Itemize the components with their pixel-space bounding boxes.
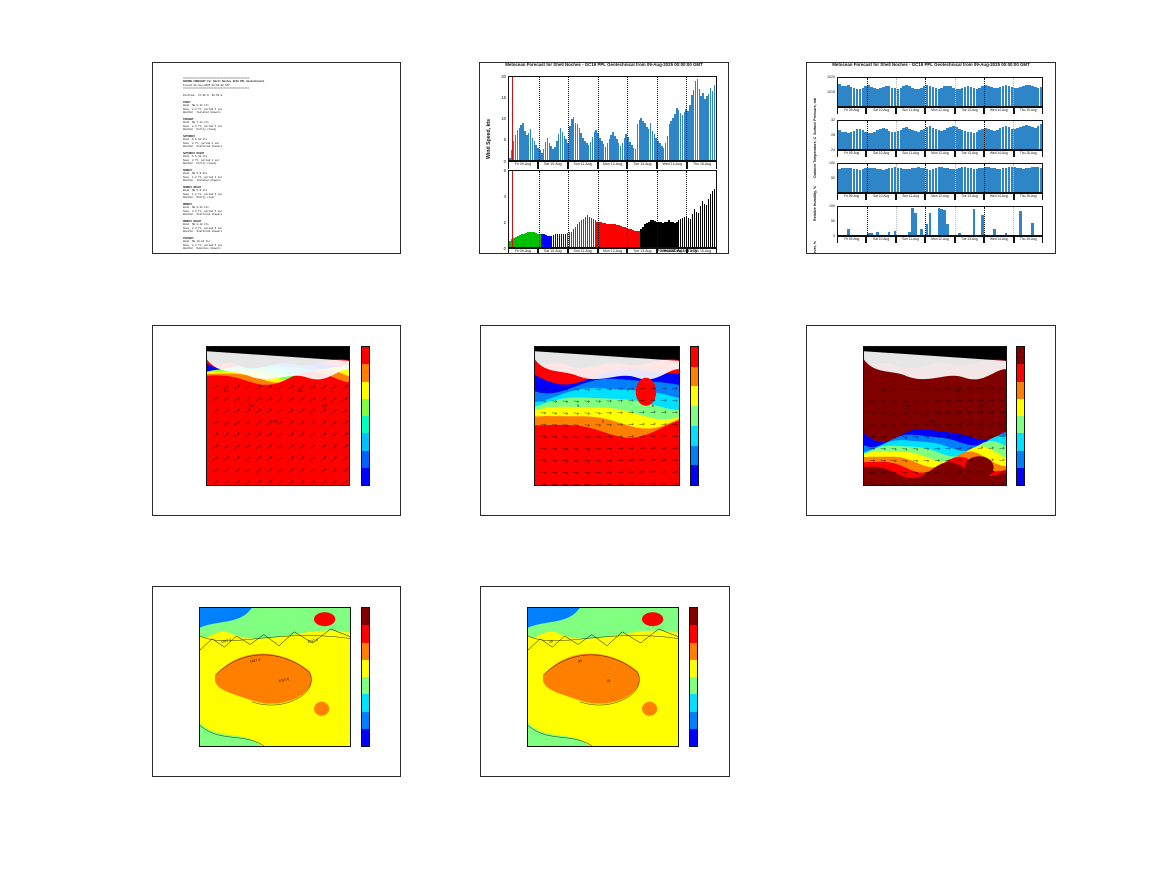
outdoor-pressure-y-tick: 1015 — [820, 90, 835, 94]
colorbar-swatch — [690, 625, 697, 642]
airtemp-map-colorbar — [689, 607, 698, 747]
bar — [888, 232, 891, 235]
day-gridline — [984, 207, 985, 235]
day-label: Tue 13-Aug — [955, 237, 984, 243]
colorbar-swatch — [362, 347, 369, 364]
wind-speed-y-tick: 10 — [492, 116, 506, 121]
day-gridline — [984, 121, 985, 149]
wind-speed-y-tick: 20 — [492, 74, 506, 79]
outdoor-pressure-axis-label: Surface Pressure, mb — [813, 98, 817, 135]
day-gridline — [867, 78, 868, 106]
day-gridline — [896, 207, 897, 235]
wind-speed-y-tick: 0 — [492, 159, 506, 164]
svg-text:5: 5 — [577, 404, 579, 408]
day-gridline — [955, 121, 956, 149]
colorbar-swatch — [362, 643, 369, 660]
day-gridline — [627, 77, 628, 160]
relative-humidity-y-tick: 100 — [820, 161, 835, 165]
day-gridline — [686, 77, 687, 160]
sun-cover-plot-area — [837, 206, 1043, 236]
bar — [946, 224, 949, 235]
svg-text:0.2: 0.2 — [881, 389, 886, 393]
day-gridline — [925, 207, 926, 235]
colorbar-swatch — [690, 712, 697, 729]
sun-cover-axis-label: Sun Cover, % — [813, 241, 817, 254]
day-gridline — [539, 77, 540, 160]
day-gridline — [1013, 121, 1014, 149]
svg-text:0.8: 0.8 — [322, 404, 327, 408]
current-map-plot-area: 0.20.40.60.81.2 — [863, 346, 1007, 486]
day-gridline — [568, 77, 569, 160]
colorbar-swatch — [691, 426, 698, 446]
wind-map-plot-area: 45678 — [534, 346, 680, 486]
current-time-marker — [512, 77, 513, 160]
bar — [1031, 223, 1034, 235]
day-label: Tue 13-Aug — [955, 194, 984, 200]
colorbar-swatch — [362, 608, 369, 625]
colorbar-swatch — [362, 364, 369, 381]
wave-height-y-tick: 2 — [492, 220, 506, 225]
day-gridline — [568, 171, 569, 247]
wave-height-bars — [509, 171, 716, 247]
sun-cover-y-tick: 0 — [820, 234, 835, 238]
bar — [1040, 168, 1043, 192]
relative-humidity-plot-area — [837, 163, 1043, 193]
svg-text:0.6: 0.6 — [930, 420, 935, 424]
day-gridline — [896, 121, 897, 149]
day-label: Mon 12-Aug — [925, 194, 954, 200]
bar — [958, 233, 961, 235]
day-label: Sun 11-Aug — [568, 249, 598, 254]
day-label: Fri 09-Aug — [508, 162, 538, 169]
colorbar-swatch — [362, 433, 369, 450]
day-label: Mon 12-Aug — [925, 108, 954, 114]
day-label: Sun 11-Aug — [896, 194, 925, 200]
day-label: Sat 10-Aug — [866, 108, 895, 114]
bar — [847, 229, 850, 235]
sun-cover-bars — [838, 207, 1042, 235]
day-label: Thu 15-Aug — [1014, 194, 1043, 200]
wave-map-plot-area: 0.30.40.50.60.8 — [206, 346, 350, 486]
outdoor-temperature-plot-area — [837, 120, 1043, 150]
wind-map-colorbar — [690, 346, 699, 486]
colorbar-swatch — [362, 399, 369, 416]
air-temperature-map-panel: 293031 — [480, 586, 730, 777]
colorbar-swatch — [690, 643, 697, 660]
colorbar-swatch — [362, 694, 369, 711]
colorbar-swatch — [362, 712, 369, 729]
met-title: Metocean Forecast for Shell Noches - GC1… — [807, 62, 1055, 67]
day-label: Wed 14-Aug — [984, 194, 1013, 200]
wind-speed-plot-area — [508, 76, 717, 161]
day-label: Wed 14-Aug — [657, 162, 687, 169]
meteorology-timeseries-panel: Metocean Forecast for Shell Noches - GC1… — [806, 62, 1056, 254]
sun-cover-day-strip: Fri 09-AugSat 10-AugSun 11-AugMon 12-Aug… — [837, 236, 1043, 243]
colorbar-swatch — [362, 468, 369, 485]
day-gridline — [955, 164, 956, 192]
current-map-colorbar — [1016, 346, 1025, 486]
legend-item-list: ExcellentVery GoodGoodFairPoor — [638, 253, 716, 254]
pressure-map-colorbar — [361, 607, 370, 747]
wind-speed-y-tick: 15 — [492, 95, 506, 100]
wind-speed-map-panel: 45678 — [480, 325, 730, 516]
outdoor-temperature-y-tick: 24 — [820, 148, 835, 152]
day-label: Thu 15-Aug — [1014, 151, 1043, 157]
bar — [1005, 233, 1008, 235]
day-gridline — [657, 171, 658, 247]
outdoor-temperature-y-tick: 28 — [820, 133, 835, 137]
day-label: Sat 10-Aug — [538, 249, 568, 254]
svg-text:4: 4 — [553, 389, 555, 393]
day-label: Mon 12-Aug — [925, 151, 954, 157]
colorbar-swatch — [1017, 451, 1024, 468]
day-gridline — [925, 78, 926, 106]
day-gridline — [598, 77, 599, 160]
svg-text:7: 7 — [627, 389, 629, 393]
day-label: Sun 11-Aug — [896, 108, 925, 114]
day-label: Thu 15-Aug — [1014, 237, 1043, 243]
colorbar-swatch — [690, 608, 697, 625]
forecast-report-page: ========================================… — [0, 0, 1167, 875]
forecast-accuracy-legend: Forecast Accuracy ExcellentVery GoodGood… — [638, 248, 716, 254]
colorbar-swatch — [362, 677, 369, 694]
wind-wave-timeseries-panel: Metocean Forecast for Shell Noches - GC1… — [479, 62, 729, 254]
outdoor-pressure-y-tick: 1020 — [820, 75, 835, 79]
day-gridline — [598, 171, 599, 247]
colorbar-swatch — [691, 406, 698, 426]
forecast-text-report-panel: ========================================… — [152, 62, 401, 254]
day-label: Sat 10-Aug — [538, 162, 568, 169]
day-label: Fri 09-Aug — [837, 108, 866, 114]
day-gridline — [984, 164, 985, 192]
svg-text:0.4: 0.4 — [249, 404, 254, 408]
colorbar-swatch — [691, 465, 698, 485]
bar — [914, 213, 917, 235]
day-label: Fri 09-Aug — [837, 237, 866, 243]
wave-map-colorbar — [361, 346, 370, 486]
colorbar-swatch — [691, 347, 698, 367]
day-label: Fri 09-Aug — [508, 249, 538, 254]
day-label: Wed 14-Aug — [984, 108, 1013, 114]
day-gridline — [925, 164, 926, 192]
wave-height-plot-area — [508, 170, 717, 248]
day-gridline — [539, 171, 540, 247]
colorbar-swatch — [691, 386, 698, 406]
day-gridline — [955, 207, 956, 235]
wave-height-map-panel: 0.30.40.50.60.8 — [152, 325, 401, 516]
colorbar-swatch — [362, 416, 369, 433]
colorbar-swatch — [362, 729, 369, 746]
day-label: Thu 15-Aug — [1014, 108, 1043, 114]
svg-text:0.4: 0.4 — [906, 404, 911, 408]
bar — [1019, 211, 1022, 235]
day-gridline — [955, 78, 956, 106]
svg-text:6: 6 — [602, 420, 604, 424]
day-label: Thu 15-Aug — [687, 162, 717, 169]
wind-speed-bars — [509, 77, 716, 160]
outdoor-temperature-axis-label: Outdoor Temperature, C — [813, 137, 817, 178]
day-gridline — [984, 78, 985, 106]
day-gridline — [867, 164, 868, 192]
relative-humidity-y-tick: 50 — [820, 176, 835, 180]
day-label: Mon 12-Aug — [598, 249, 628, 254]
bar — [714, 85, 716, 160]
day-label: Tue 13-Aug — [627, 162, 657, 169]
day-gridline — [686, 171, 687, 247]
colorbar-swatch — [362, 660, 369, 677]
outdoor-temperature-bars — [838, 121, 1042, 149]
day-label: Sat 10-Aug — [866, 194, 895, 200]
bar — [714, 189, 716, 247]
day-label: Wed 14-Aug — [984, 237, 1013, 243]
wind-speed-day-strip: Fri 09-AugSat 10-AugSun 11-AugMon 12-Aug… — [508, 161, 717, 169]
bar — [876, 232, 879, 235]
colorbar-swatch — [691, 367, 698, 387]
colorbar-swatch — [1017, 364, 1024, 381]
wave-height-y-tick: 6 — [492, 168, 506, 173]
day-label: Wed 14-Aug — [984, 151, 1013, 157]
svg-text:1.2: 1.2 — [979, 404, 984, 408]
relative-humidity-bars — [838, 164, 1042, 192]
colorbar-swatch — [1017, 347, 1024, 364]
current-speed-map-panel: 0.20.40.60.81.2 — [806, 325, 1056, 516]
day-label: Fri 09-Aug — [837, 194, 866, 200]
bar — [1040, 87, 1043, 106]
pressure-map-plot-area: 1017.21017.41017.61017.8 — [199, 607, 351, 747]
colorbar-swatch — [690, 677, 697, 694]
day-gridline — [1013, 164, 1014, 192]
day-label: Sun 11-Aug — [896, 151, 925, 157]
colorbar-swatch — [1017, 416, 1024, 433]
day-label: Sun 11-Aug — [568, 162, 598, 169]
day-label: Tue 13-Aug — [955, 108, 984, 114]
day-gridline — [627, 171, 628, 247]
outdoor-pressure-plot-area — [837, 77, 1043, 107]
day-label: Fri 09-Aug — [837, 151, 866, 157]
outdoor-temperature-y-tick: 32 — [820, 118, 835, 122]
bar — [1040, 124, 1043, 149]
colorbar-swatch — [1017, 382, 1024, 399]
report-line-list: ========================================… — [183, 77, 382, 254]
bar — [993, 229, 996, 235]
day-label: Sun 11-Aug — [896, 237, 925, 243]
outdoor-temperature-day-strip: Fri 09-AugSat 10-AugSun 11-AugMon 12-Aug… — [837, 150, 1043, 157]
day-label: Tue 13-Aug — [955, 151, 984, 157]
colorbar-swatch — [690, 660, 697, 677]
day-gridline — [657, 77, 658, 160]
colorbar-swatch — [690, 694, 697, 711]
day-gridline — [1013, 78, 1014, 106]
day-gridline — [1013, 207, 1014, 235]
day-gridline — [925, 121, 926, 149]
colorbar-swatch — [1017, 468, 1024, 485]
windwave-title: Metocean Forecast for Shell Noches - GC1… — [480, 62, 728, 67]
relative-humidity-axis-label: Relative Humidity, % — [813, 186, 817, 221]
legend-item: Excellent — [638, 253, 716, 254]
bar — [870, 233, 873, 235]
day-label: Mon 12-Aug — [598, 162, 628, 169]
svg-text:0.5: 0.5 — [273, 420, 278, 424]
day-label: Mon 12-Aug — [925, 237, 954, 243]
outdoor-pressure-bars — [838, 78, 1042, 106]
day-gridline — [896, 164, 897, 192]
bar — [920, 229, 923, 235]
sun-cover-y-tick: 50 — [820, 219, 835, 223]
bar — [929, 213, 932, 235]
surface-pressure-map-panel: 1017.21017.41017.61017.8 — [152, 586, 401, 777]
colorbar-swatch — [690, 729, 697, 746]
svg-text:0.3: 0.3 — [224, 389, 229, 393]
relative-humidity-day-strip: Fri 09-AugSat 10-AugSun 11-AugMon 12-Aug… — [837, 193, 1043, 200]
day-gridline — [896, 78, 897, 106]
wave-height-y-tick: 4 — [492, 194, 506, 199]
colorbar-swatch — [1017, 433, 1024, 450]
airtemp-map-plot-area: 293031 — [527, 607, 679, 747]
day-label: Sat 10-Aug — [866, 237, 895, 243]
wind-speed-y-tick: 5 — [492, 137, 506, 142]
day-label: Sat 10-Aug — [866, 151, 895, 157]
sun-cover-y-tick: 100 — [820, 204, 835, 208]
svg-text:0.8: 0.8 — [955, 389, 960, 393]
outdoor-pressure-day-strip: Fri 09-AugSat 10-AugSun 11-AugMon 12-Aug… — [837, 107, 1043, 114]
colorbar-swatch — [362, 625, 369, 642]
wave-height-y-tick: 0 — [492, 246, 506, 251]
colorbar-swatch — [362, 382, 369, 399]
bar — [973, 209, 976, 235]
current-time-marker-wave — [512, 171, 513, 247]
colorbar-swatch — [362, 451, 369, 468]
day-gridline — [867, 207, 868, 235]
svg-text:8: 8 — [652, 404, 654, 408]
colorbar-swatch — [1017, 399, 1024, 416]
day-gridline — [867, 121, 868, 149]
svg-text:0.6: 0.6 — [298, 389, 303, 393]
colorbar-swatch — [691, 446, 698, 466]
